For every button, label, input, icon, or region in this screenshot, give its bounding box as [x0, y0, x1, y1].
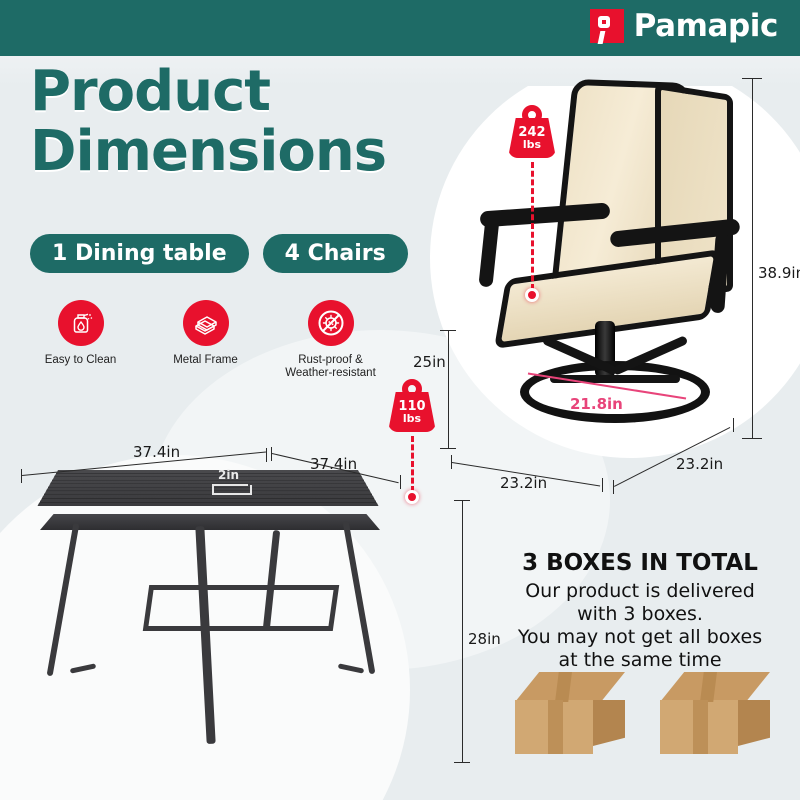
feature-metal-frame: Metal Frame — [143, 300, 268, 380]
chair-weight-dashed-line — [531, 162, 534, 290]
chair-height-label: 38.9in — [758, 264, 800, 282]
table-leg-back-right — [343, 521, 376, 675]
feature-easy-to-clean: Easy to Clean — [18, 300, 143, 380]
chair-width-tick-left — [451, 455, 452, 469]
boxes-line-1: Our product is delivered — [525, 580, 755, 602]
boxes-description: Our product is delivered with 3 boxes. Y… — [490, 580, 790, 672]
table-weight-anchor-dot — [405, 490, 419, 504]
table-leg-back-left — [47, 523, 80, 677]
chair-weight-anchor-dot — [525, 288, 539, 302]
infographic-page: Pamapic Product Dimensions 1 Dining tabl… — [0, 0, 800, 800]
cardboard-box-2 — [660, 672, 770, 754]
feature-list: Easy to Clean Metal Frame — [18, 300, 393, 380]
no-rust-germ-icon — [308, 300, 354, 346]
boxes-heading: 3 BOXES IN TOTAL — [490, 550, 790, 576]
boxes-line-3: You may not get all boxes — [518, 626, 762, 648]
feature-rust-proof: Rust-proof & Weather-resistant — [268, 300, 393, 380]
title-line-1: Product — [30, 62, 460, 122]
table-height-tick-bottom — [454, 762, 470, 763]
table-weight-badge: 110 lbs — [388, 392, 436, 432]
cardboard-box-images — [505, 672, 795, 762]
chair-width-label: 23.2in — [500, 474, 547, 492]
chair-width-tick-right — [602, 478, 603, 492]
table-weight-dashed-line — [411, 436, 414, 492]
box-1-side — [593, 700, 625, 746]
chair-seat-height-label: 25in — [413, 353, 446, 371]
chair-height-tick-top — [742, 78, 762, 79]
boxes-line-2: with 3 boxes. — [577, 603, 703, 625]
pill-dining-table: 1 Dining table — [30, 234, 249, 273]
title-line-2: Dimensions — [30, 122, 460, 182]
rust-label-line-1: Rust-proof & — [298, 354, 363, 366]
contents-pill-row: 1 Dining table 4 Chairs — [30, 234, 408, 273]
pamapic-r-logo-icon — [590, 9, 624, 43]
table-length-tick-left — [21, 469, 22, 483]
chair-height-dimension-line — [752, 78, 753, 438]
chair-depth-label: 23.2in — [676, 455, 723, 473]
table-foot-left — [70, 663, 96, 673]
feature-label-metal-frame: Metal Frame — [173, 354, 238, 367]
box-2-side — [738, 700, 770, 746]
chair-height-tick-bottom — [742, 438, 762, 439]
table-weight-unit: lbs — [388, 413, 436, 425]
chair-weight-badge-body: 242 lbs — [508, 118, 556, 158]
box-2-tape-front — [693, 700, 708, 754]
chair-seat-height-tick-bottom — [440, 448, 456, 449]
brand-name: Pamapic — [634, 8, 778, 44]
chair-depth-tick-left — [613, 480, 614, 494]
metal-sheets-icon — [183, 300, 229, 346]
table-width-tick-right — [400, 475, 401, 489]
boxes-info: 3 BOXES IN TOTAL Our product is delivere… — [490, 550, 790, 672]
feature-label-easy-to-clean: Easy to Clean — [45, 354, 117, 367]
chair-weight-unit: lbs — [508, 139, 556, 151]
boxes-line-4: at the same time — [558, 649, 721, 671]
umbrella-hole-bracket — [212, 485, 252, 495]
chair-seat-height-dimension-line — [448, 330, 449, 448]
table-height-tick-top — [454, 500, 470, 501]
table-height-dimension-line — [462, 500, 463, 762]
chair-seat-height-tick-top — [440, 330, 456, 331]
chair-base-diameter-label: 21.8in — [570, 395, 623, 413]
table-illustration — [18, 470, 408, 770]
pill-chairs: 4 Chairs — [263, 234, 408, 273]
chair-arm-support-left — [478, 216, 499, 287]
brand-logo: Pamapic — [590, 8, 778, 44]
header-bar: Pamapic — [0, 0, 800, 56]
table-leg-front-center — [195, 526, 215, 744]
table-foot-right — [338, 663, 364, 673]
umbrella-hole-label: 2in — [218, 468, 239, 482]
table-cross-brace — [143, 585, 339, 631]
page-title: Product Dimensions — [30, 62, 460, 182]
table-top-surface — [37, 470, 378, 506]
table-weight-badge-body: 110 lbs — [388, 392, 436, 432]
table-edge — [40, 514, 380, 530]
table-length-label: 37.4in — [133, 443, 180, 461]
rust-label-line-2: Weather-resistant — [285, 367, 376, 379]
feature-label-rust-proof: Rust-proof & Weather-resistant — [285, 354, 376, 380]
chair-weight-badge: 242 lbs — [508, 118, 556, 158]
table-width-tick-left — [271, 447, 272, 461]
umbrella-hole-bracket-bar — [212, 484, 248, 486]
box-1-tape-front — [548, 700, 563, 754]
spray-bottle-icon — [58, 300, 104, 346]
table-length-tick-right — [266, 448, 267, 462]
table-width-label: 37.4in — [310, 455, 357, 473]
chair-depth-tick-right — [733, 418, 734, 432]
cardboard-box-1 — [515, 672, 625, 754]
